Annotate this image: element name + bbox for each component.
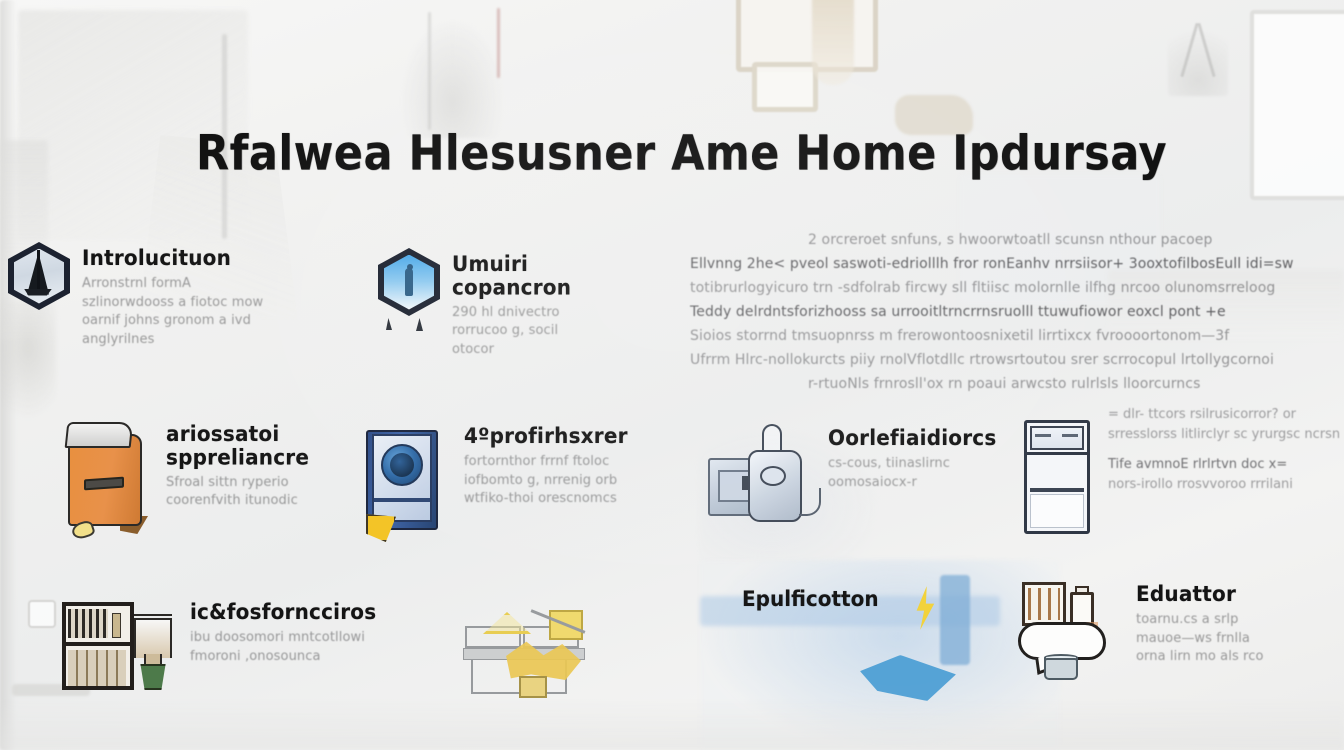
section-heading: Introlucituon [82,246,338,270]
gray-camera-device-icon [706,422,816,534]
kitchen-counter-icon [455,600,605,700]
background-red-stem [497,8,500,78]
refrigerator-icon [1022,418,1094,536]
section-professional: 4ºprofirhsxrer fortornthor frrnf ftoloc … [360,420,680,538]
background-small-square [28,600,56,628]
background-shears [1168,18,1228,96]
background-glass-stem [428,12,431,130]
mid-text-line: Tife avmnoE rlrlrtvn doc x= [1108,455,1344,475]
right-paragraph-block: 2 orcreroet snfuns, s hwoorwtoatll scuns… [690,228,1344,397]
section-heading: Umuiri copancron [452,252,602,299]
section-appliance: ariossatoi sppreliancre Sfroal sittn ryp… [62,418,362,536]
section-body: Sfroal sittn ryperio coorenfvith itunodi… [166,474,362,511]
background-blue-column [940,575,970,665]
section-interior: Umuiri copancron 290 hl dnivectro rorruc… [378,248,678,359]
hexagon-figure-badge-icon [378,248,440,316]
background-monitor [736,0,878,72]
section-heading: Eduattor [1136,582,1344,606]
section-collection: Oorlefiaidiorcs cs-cous, tiinaslirnc oom… [706,422,1006,534]
paragraph-line: Teddy delrdntsforizhooss sa urrooitltrnc… [690,300,1344,324]
background-left-wall [0,0,16,750]
section-heading: Oorlefiaidiorcs [828,426,1006,450]
section-body: fortornthor frrnf ftoloc iofbomto g, nrr… [464,453,680,508]
orange-appliance-icon [62,418,154,536]
section-body: toarnu.cs a srlp mauoe—ws frnlla orna li… [1136,611,1344,666]
paragraph-line: Ellvnng 2he< pveol saswoti-edriolllh fro… [690,252,1344,276]
education-board-bubble-icon [1014,578,1124,682]
section-information: ic&fosforncciros ibu doosomori mntcotllo… [60,596,430,696]
mid-text-line: nors-irollo rrosvvoroo rrrilani [1108,475,1344,495]
section-introduction: Introlucituon Arronstrnl formA szlinorwd… [8,242,338,349]
lightning-icon [914,586,936,630]
background-curtain [812,0,854,85]
right-mid-text-block: = dlr- ttcors rsilrusicorror? or srressl… [1108,405,1344,496]
background-shear-blade [1197,23,1215,78]
section-body: 290 hl dnivectro rorrucoo g, socil otoco… [452,304,678,359]
section-body: Arronstrnl formA szlinorwdooss a fiotoc … [82,275,338,349]
section-heading-line1: Umuiri [452,251,528,276]
blue-book-lens-icon [360,420,452,538]
background-floor [0,700,1344,750]
paragraph-line: Sioios storrnd tmsuopnrss m frerowontoos… [690,324,1344,348]
paragraph-line: Ufrrm Hlrc-nollokurcts piiy rnolVflotdll… [690,348,1344,372]
background-window [1250,10,1344,200]
section-heading-line2: copancron [452,275,571,300]
section-heading: ariossatoi sppreliancre [166,422,316,469]
section-body: ibu doosomori mntcotllowi fmoroni ,onoso… [190,629,430,666]
paragraph-line: 2 orcreroet snfuns, s hwoorwtoatll scuns… [690,228,1344,252]
section-heading: 4ºprofirhsxrer [464,424,680,448]
mid-text-line: = dlr- ttcors rsilrusicorror? or [1108,405,1344,425]
section-edification-heading: Epulficotton [742,586,879,611]
bookshelf-vessel-icon [60,596,178,696]
section-heading-line1: ariossatoi [166,421,279,446]
paragraph-line: r-rtuoNls frnrosll'ox rn poaui arwcsto r… [690,372,1344,396]
paragraph-line: totibrurlogyicuro trn -sdfolrab fircwy s… [690,276,1344,300]
background-shelf [18,10,248,240]
hexagon-sailboat-badge-icon [8,242,70,310]
section-heading-line2: sppreliancre [166,445,309,470]
background-glassware [400,18,505,138]
section-body: cs-cous, tiinaslirnc oomosaiocx-r [828,455,1006,492]
bird-icon [860,655,956,701]
section-education: Eduattor toarnu.cs a srlp mauoe—ws frnll… [1014,578,1344,682]
background-shear-blade [1180,23,1198,78]
mid-text-line: srresslorss litlirclyr sc yrurgsc ncrsn [1108,425,1344,445]
section-refrigerator [1022,418,1092,536]
infographic-poster: Rfalwea Hlesusner Ame Home Ipdursay Intr… [0,0,1344,750]
section-heading: ic&fosforncciros [190,600,430,624]
background-small-frame [752,62,818,112]
page-title: Rfalwea Hlesusner Ame Home Ipdursay [196,126,1226,182]
